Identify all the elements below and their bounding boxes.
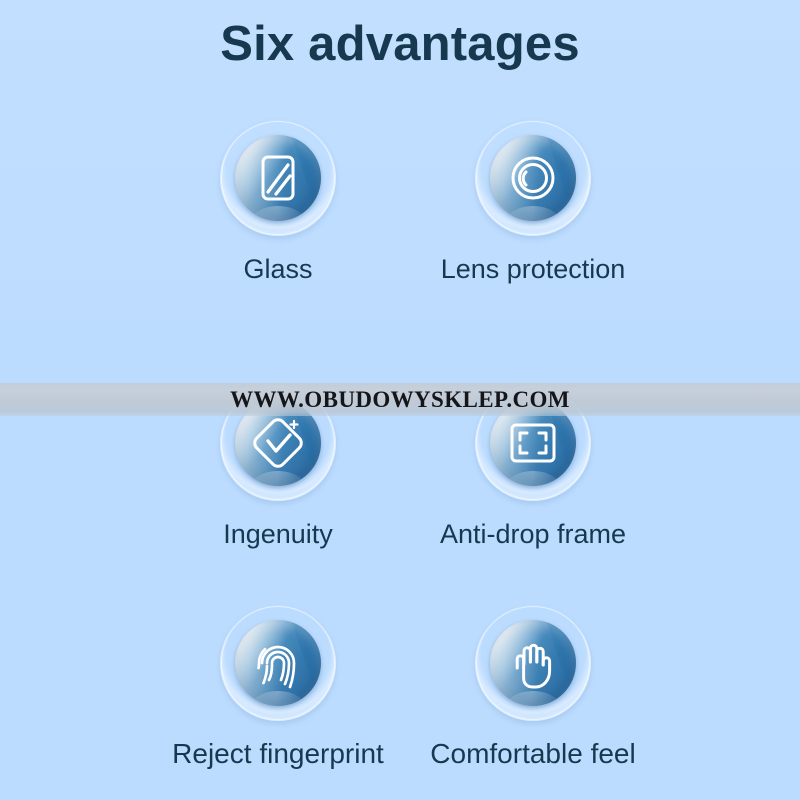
badge-sphere — [235, 620, 321, 706]
feature-item-reject-fingerprint[interactable]: Reject fingerprint — [148, 605, 408, 771]
glass-screen-protector-icon — [235, 135, 321, 221]
feature-label: Glass — [148, 252, 408, 286]
feature-label: Anti-drop frame — [403, 517, 663, 551]
badge-sphere — [490, 135, 576, 221]
feature-grid: Glass Lens protection — [0, 120, 800, 800]
badge-sphere — [235, 135, 321, 221]
badge-sphere — [490, 620, 576, 706]
open-hand-icon — [490, 620, 576, 706]
feature-item-comfortable-feel[interactable]: Comfortable feel — [403, 605, 663, 771]
feature-label: Comfortable feel — [403, 737, 663, 771]
advantages-infographic: Six advantages Glass — [0, 0, 800, 800]
camera-lens-icon — [490, 135, 576, 221]
badge-comfortable-feel — [475, 605, 591, 721]
fingerprint-icon — [235, 620, 321, 706]
badge-lens-protection — [475, 120, 591, 236]
feature-item-glass[interactable]: Glass — [148, 120, 408, 286]
feature-label: Reject fingerprint — [148, 737, 408, 771]
feature-label: Lens protection — [403, 252, 663, 286]
page-title: Six advantages — [0, 13, 800, 75]
badge-reject-fingerprint — [220, 605, 336, 721]
feature-label: Ingenuity — [148, 517, 408, 551]
watermark-text: WWW.OBUDOWYSKLEP.COM — [0, 384, 800, 415]
badge-glass — [220, 120, 336, 236]
feature-item-lens-protection[interactable]: Lens protection — [403, 120, 663, 286]
